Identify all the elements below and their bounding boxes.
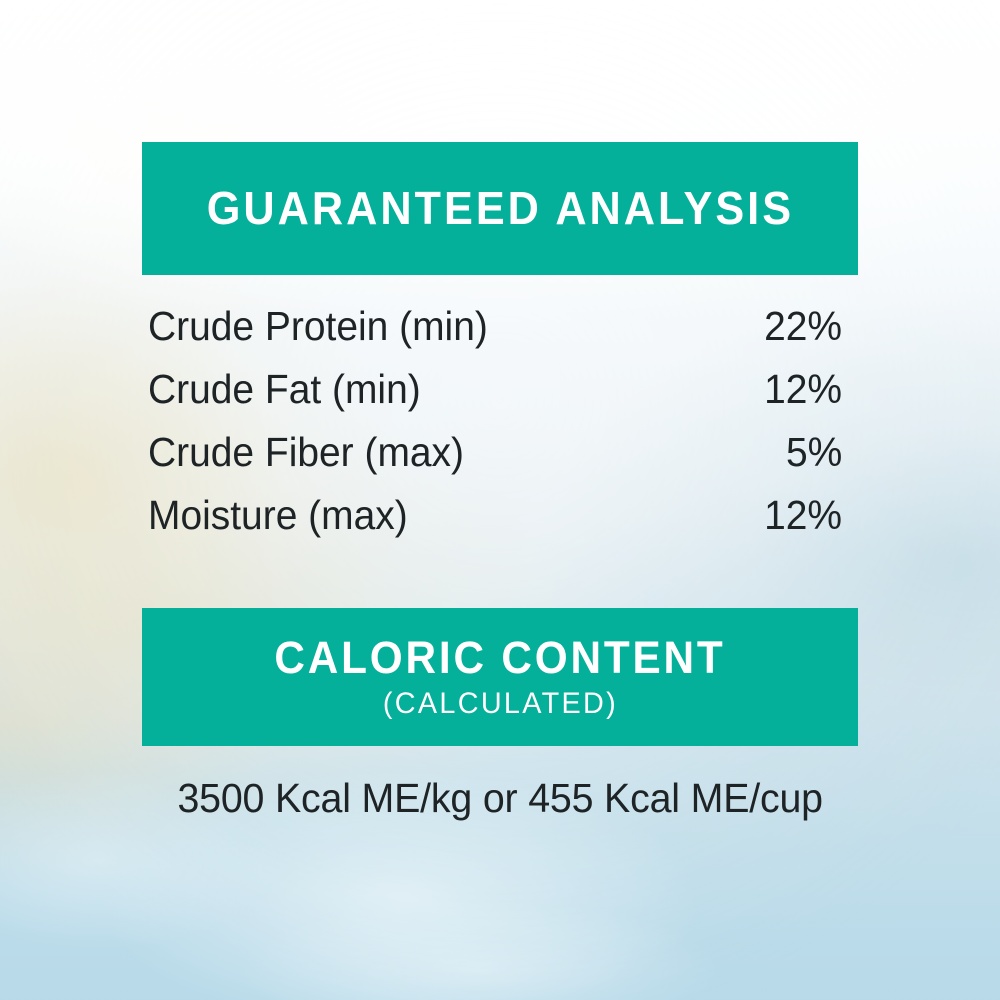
analysis-label-crude-fiber: Crude Fiber (max): [148, 432, 464, 473]
nutrition-label-canvas: GUARANTEED ANALYSIS Crude Protein (min) …: [0, 0, 1000, 1000]
guaranteed-analysis-title: GUARANTEED ANALYSIS: [206, 184, 793, 232]
analysis-label-moisture: Moisture (max): [148, 495, 408, 536]
label-content: GUARANTEED ANALYSIS Crude Protein (min) …: [0, 0, 1000, 1000]
table-row: Crude Fiber (max) 5%: [148, 432, 842, 495]
guaranteed-analysis-banner: GUARANTEED ANALYSIS: [142, 142, 858, 275]
analysis-label-crude-fat: Crude Fat (min): [148, 369, 421, 410]
analysis-value-crude-protein: 22%: [764, 306, 842, 347]
analysis-value-moisture: 12%: [764, 495, 842, 536]
caloric-content-banner: CALORIC CONTENT (CALCULATED): [142, 608, 858, 746]
table-row: Crude Fat (min) 12%: [148, 369, 842, 432]
table-row: Crude Protein (min) 22%: [148, 306, 842, 369]
guaranteed-analysis-table: Crude Protein (min) 22% Crude Fat (min) …: [148, 306, 842, 558]
analysis-value-crude-fiber: 5%: [786, 432, 842, 473]
analysis-value-crude-fat: 12%: [764, 369, 842, 410]
caloric-content-statement-text: 3500 Kcal ME/kg or 455 Kcal ME/cup: [177, 778, 822, 819]
table-row: Moisture (max) 12%: [148, 495, 842, 558]
caloric-content-statement: 3500 Kcal ME/kg or 455 Kcal ME/cup: [0, 778, 1000, 819]
caloric-content-subtitle: (CALCULATED): [382, 687, 617, 720]
caloric-content-title: CALORIC CONTENT: [274, 634, 725, 681]
analysis-label-crude-protein: Crude Protein (min): [148, 306, 488, 347]
